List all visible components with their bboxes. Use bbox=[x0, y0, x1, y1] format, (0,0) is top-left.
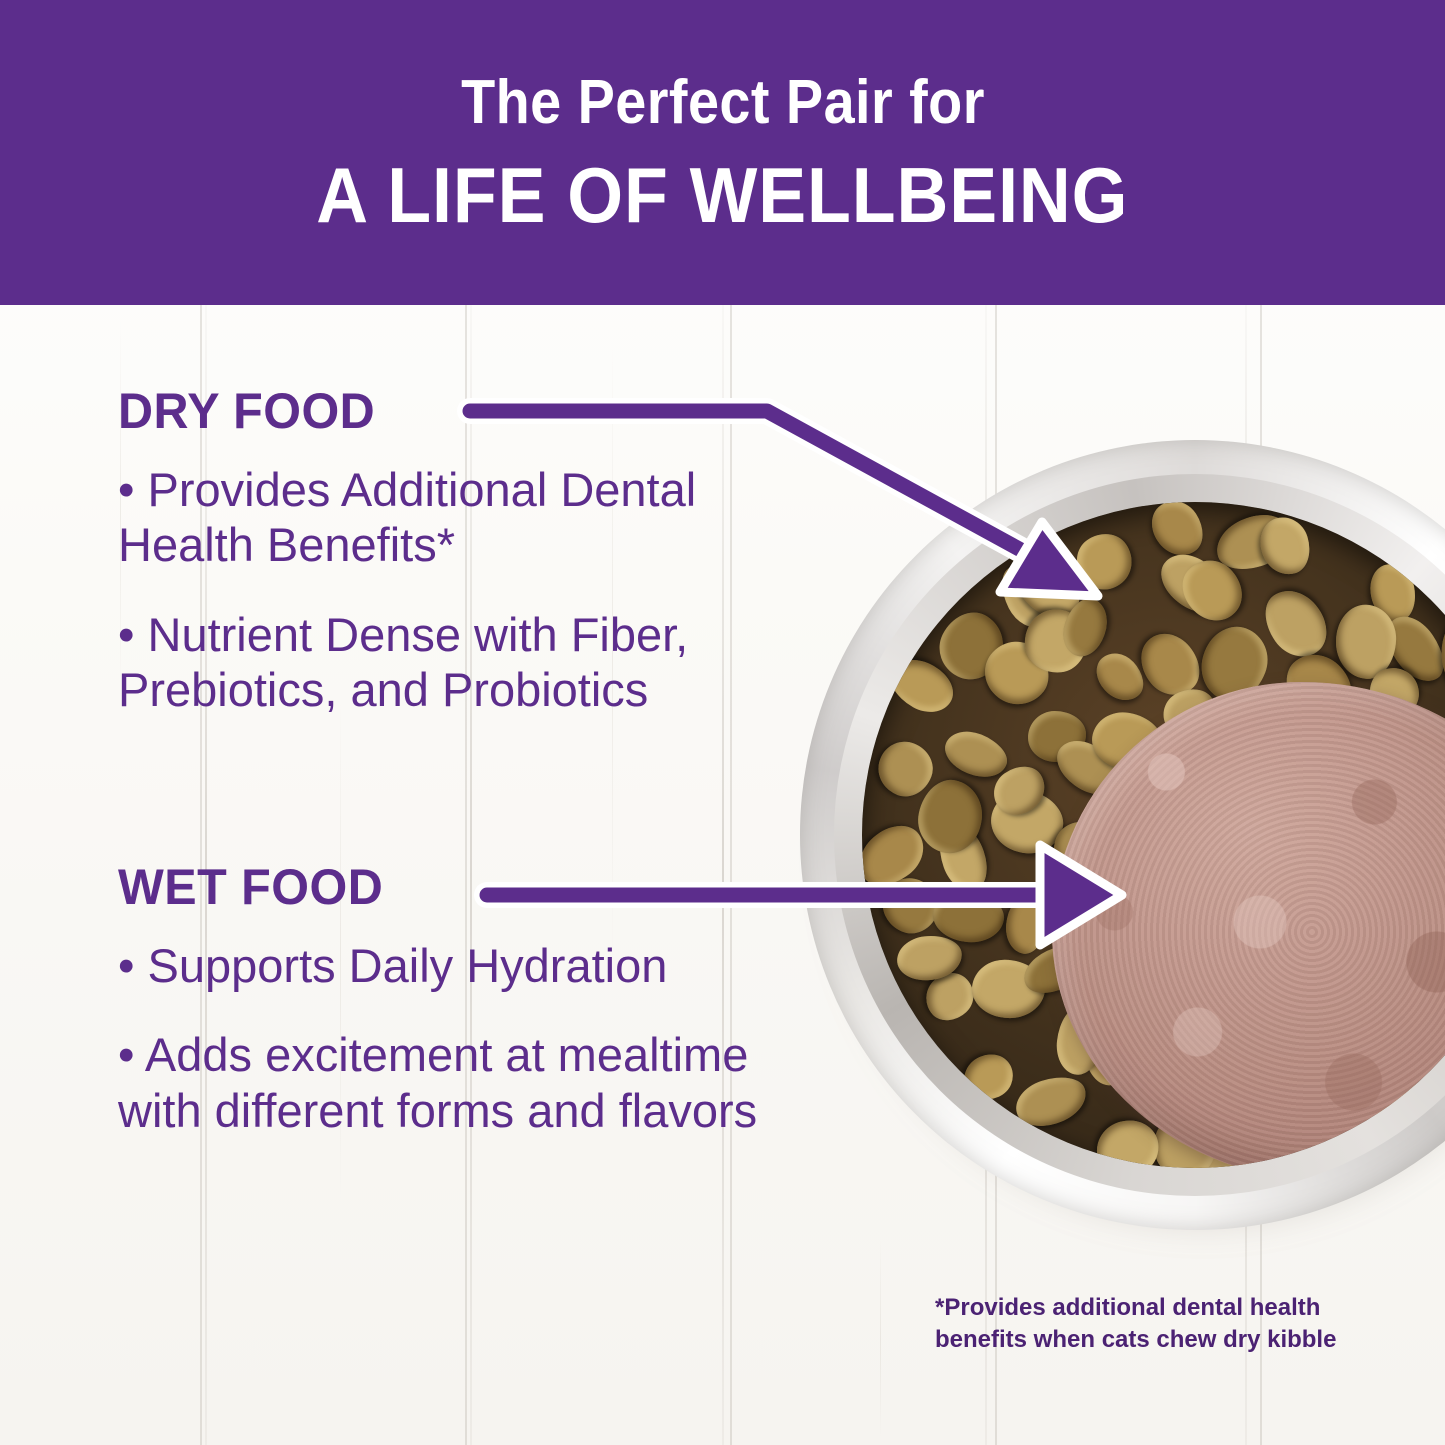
list-item: • Provides Additional Dental Health Bene… bbox=[118, 462, 778, 573]
dry-food-bullet-list: • Provides Additional Dental Health Bene… bbox=[118, 462, 778, 752]
footnote-text: *Provides additional dental health benef… bbox=[935, 1292, 1365, 1355]
infographic-canvas: The Perfect Pair for A LIFE OF WELLBEING… bbox=[0, 0, 1445, 1445]
wet-food-bullet-list: • Supports Daily Hydration • Adds excite… bbox=[118, 938, 778, 1172]
kibble-piece bbox=[1000, 890, 1052, 956]
header-banner: The Perfect Pair for A LIFE OF WELLBEING bbox=[0, 0, 1445, 305]
header-line-1: The Perfect Pair for bbox=[461, 72, 985, 134]
kibble-piece bbox=[1441, 620, 1445, 690]
list-item: • Nutrient Dense with Fiber, Prebiotics,… bbox=[118, 607, 778, 718]
list-item: • Supports Daily Hydration bbox=[118, 938, 778, 993]
food-bowl-photo bbox=[800, 440, 1445, 1240]
list-item: • Adds excitement at mealtime with diffe… bbox=[118, 1027, 778, 1138]
page-title: A LIFE OF WELLBEING bbox=[316, 156, 1128, 234]
wood-grain bbox=[880, 1240, 881, 1440]
wet-food-pate bbox=[1052, 682, 1445, 1168]
pate-texture bbox=[1052, 682, 1445, 1168]
section-heading-dry-food: DRY FOOD bbox=[118, 382, 375, 440]
section-heading-wet-food: WET FOOD bbox=[118, 858, 383, 916]
